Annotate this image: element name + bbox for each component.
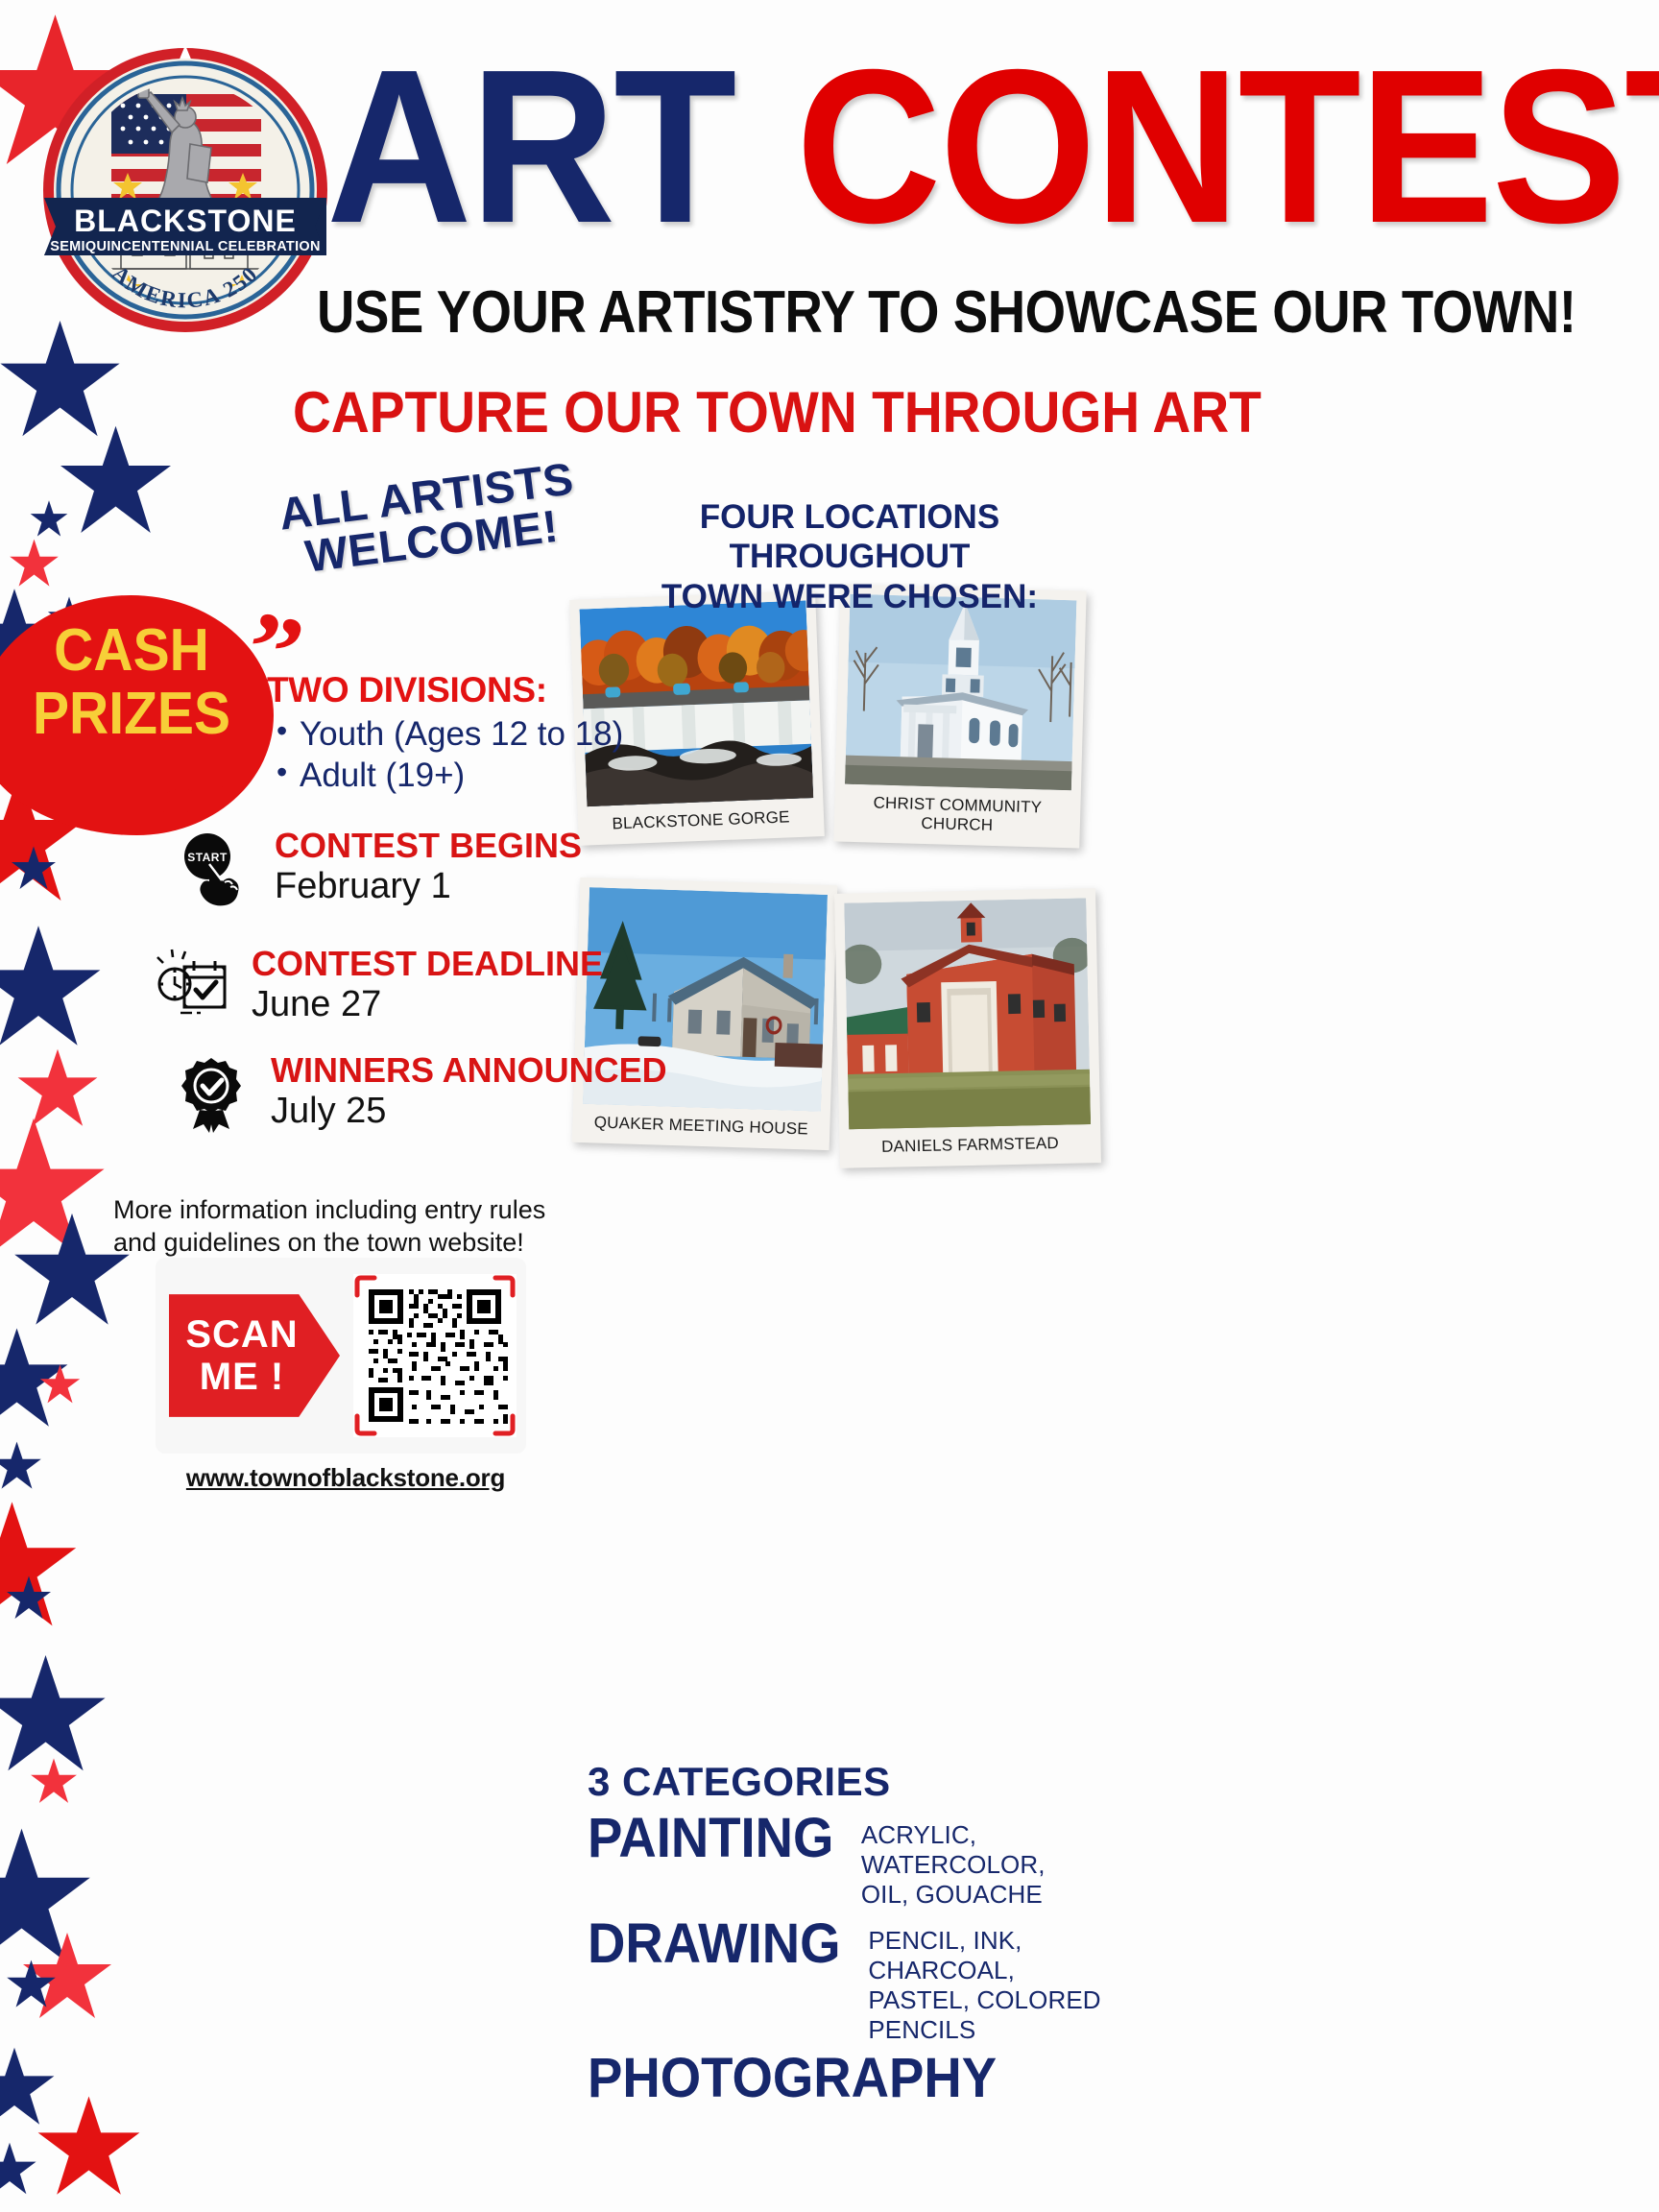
- category-media: ACRYLIC, WATERCOLOR,OIL, GOUACHE: [861, 1811, 1125, 1911]
- photo-caption: CHRIST COMMUNITY CHURCH: [843, 784, 1071, 848]
- logo-town-name: BLACKSTONE: [74, 204, 297, 238]
- category-name: DRAWING: [588, 1916, 841, 1972]
- photo-card-christ-community-church: CHRIST COMMUNITY CHURCH: [833, 584, 1086, 848]
- divisions-block: TWO DIVISIONS: Youth (Ages 12 to 18) Adu…: [267, 670, 623, 796]
- tagline: USE YOUR ARTISTRY TO SHOWCASE OUR TOWN!: [317, 278, 1271, 347]
- scan-me-line2: ME !: [200, 1356, 284, 1398]
- qr-card: SCAN ME !: [156, 1258, 526, 1454]
- category-row-drawing: DRAWING PENCIL, INK, CHARCOAL,PASTEL, CO…: [588, 1916, 1125, 2046]
- subheading: CAPTURE OUR TOWN THROUGH ART: [293, 379, 1262, 445]
- categories-block: 3 CATEGORIES PAINTING ACRYLIC, WATERCOLO…: [588, 1759, 1125, 2106]
- photo-image-red-barn: [844, 898, 1091, 1129]
- divisions-heading: TWO DIVISIONS:: [267, 670, 623, 710]
- cash-prizes-line2: PRIZES: [21, 683, 242, 746]
- page-title: ART CONTEST: [326, 58, 1659, 237]
- date-value: February 1: [275, 866, 582, 908]
- divisions-list: Youth (Ages 12 to 18) Adult (19+): [267, 714, 623, 796]
- division-item: Adult (19+): [267, 756, 623, 797]
- award-ribbon-icon: [171, 1052, 252, 1133]
- date-text-group: CONTEST BEGINS February 1: [275, 828, 582, 907]
- clock-calendar-icon: [152, 946, 232, 1026]
- date-text-group: CONTEST DEADLINE June 27: [252, 946, 603, 1025]
- division-item: Youth (Ages 12 to 18): [267, 714, 623, 756]
- cash-prizes-line1: CASH: [21, 619, 242, 683]
- photo-image-church: [845, 594, 1076, 791]
- poster-root: AMERICA 250 BLACKSTONE SEMIQUINCENTENNIA…: [0, 0, 1659, 2212]
- start-hand-icon: START: [175, 828, 255, 908]
- category-row-photography: PHOTOGRAPHY: [588, 2051, 1125, 2106]
- category-name: PHOTOGRAPHY: [588, 2051, 997, 2106]
- blob-dot-small: [204, 785, 228, 806]
- locations-heading-line2: TOWN WERE CHOSEN:: [595, 577, 1104, 616]
- date-row-winners-announced: WINNERS ANNOUNCED July 25: [171, 1052, 667, 1133]
- category-row-painting: PAINTING ACRYLIC, WATERCOLOR,OIL, GOUACH…: [588, 1811, 1125, 1911]
- locations-heading: FOUR LOCATIONS THROUGHOUT TOWN WERE CHOS…: [595, 497, 1104, 616]
- more-information-text: More information including entry rules a…: [113, 1193, 565, 1259]
- title-word-art: ART: [326, 58, 735, 237]
- town-website-link[interactable]: www.townofblackstone.org: [154, 1463, 538, 1493]
- locations-heading-line1: FOUR LOCATIONS THROUGHOUT: [595, 497, 1104, 577]
- all-artists-welcome: ALL ARTISTS WELCOME!: [276, 455, 582, 581]
- category-media: PENCIL, INK, CHARCOAL,PASTEL, COLORED PE…: [868, 1916, 1125, 2046]
- photo-caption: DANIELS FARMSTEAD: [849, 1124, 1092, 1168]
- scan-me-line1: SCAN: [185, 1313, 298, 1356]
- date-text-group: WINNERS ANNOUNCED July 25: [271, 1052, 667, 1132]
- date-value: July 25: [271, 1091, 667, 1133]
- cash-prizes-text: CASH PRIZES: [21, 619, 242, 745]
- date-row-contest-deadline: CONTEST DEADLINE June 27: [152, 946, 603, 1026]
- svg-text:START: START: [187, 851, 228, 864]
- qr-code[interactable]: [353, 1274, 517, 1437]
- scan-me-button[interactable]: SCAN ME !: [169, 1275, 340, 1436]
- categories-heading: 3 CATEGORIES: [588, 1759, 1125, 1805]
- blackstone-seal-logo: AMERICA 250 BLACKSTONE SEMIQUINCENTENNIA…: [36, 36, 334, 344]
- date-label: CONTEST BEGINS: [275, 828, 582, 864]
- date-row-contest-begins: START CONTEST BEGINS February 1: [175, 828, 582, 908]
- date-label: WINNERS ANNOUNCED: [271, 1052, 667, 1089]
- category-name: PAINTING: [588, 1811, 833, 1866]
- photo-card-daniels-farmstead: DANIELS FARMSTEAD: [834, 888, 1101, 1168]
- date-label: CONTEST DEADLINE: [252, 946, 603, 982]
- date-value: June 27: [252, 984, 603, 1026]
- logo-subtitle: SEMIQUINCENTENNIAL CELEBRATION: [50, 239, 321, 254]
- title-word-contest: CONTEST: [796, 58, 1659, 237]
